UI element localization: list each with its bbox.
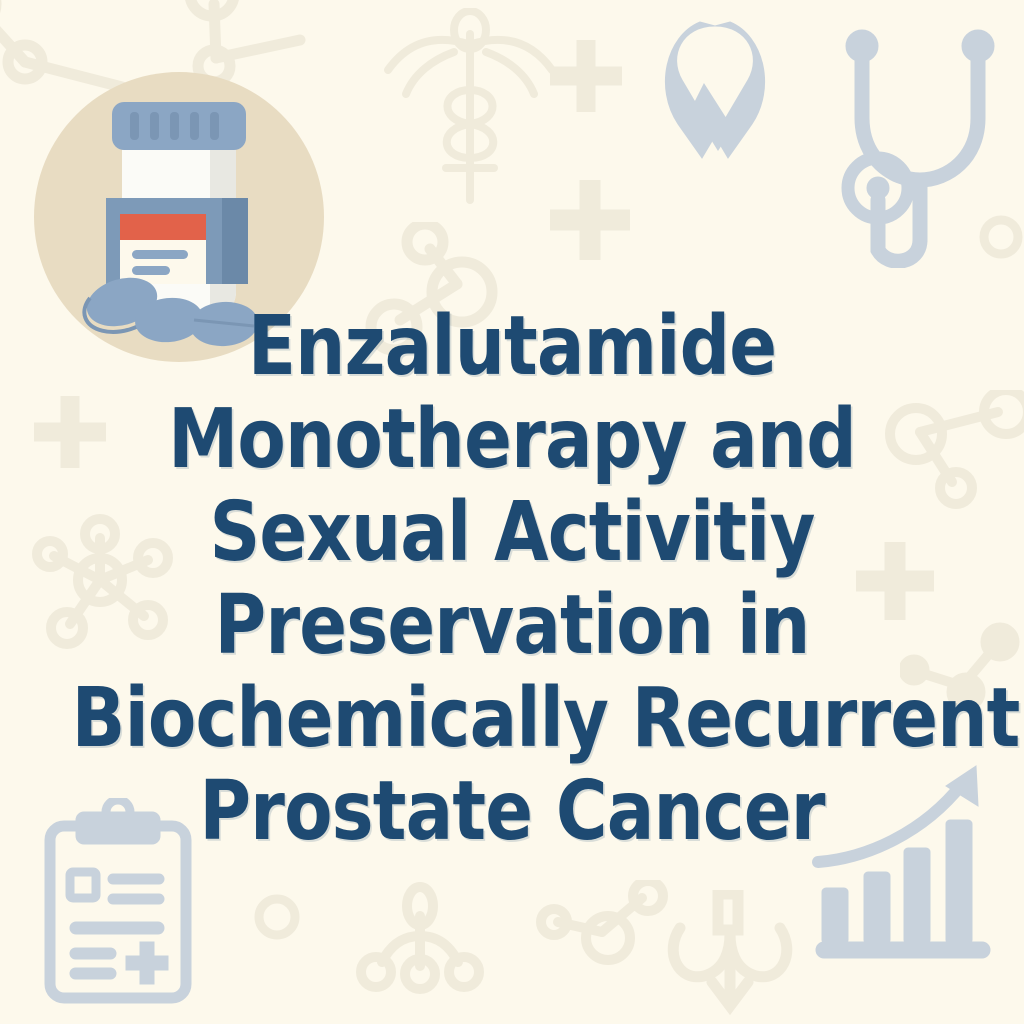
title-line-6: Prostate Cancer — [72, 765, 953, 858]
title-line-3: Sexual Activitiy — [72, 486, 953, 579]
circle-icon — [250, 890, 304, 944]
poster-canvas: Enzalutamide Monotherapy and Sexual Acti… — [0, 0, 1024, 1024]
molecule-icon — [530, 880, 670, 1000]
circle-icon — [976, 212, 1024, 262]
caduceus-icon — [380, 8, 560, 208]
medical-cross-icon — [550, 40, 622, 112]
title-line-5: Biochemically Recurrent — [72, 672, 953, 765]
molecule-icon — [350, 880, 490, 1010]
page-title: Enzalutamide Monotherapy and Sexual Acti… — [0, 300, 1024, 858]
awareness-ribbon-icon — [660, 18, 770, 178]
title-line-4: Preservation in — [72, 579, 953, 672]
medical-cross-icon — [550, 180, 630, 260]
stethoscope-outline-icon — [660, 890, 800, 1024]
stethoscope-icon — [820, 18, 1020, 268]
title-line-2: Monotherapy and — [72, 393, 953, 486]
title-line-1: Enzalutamide — [72, 300, 953, 393]
